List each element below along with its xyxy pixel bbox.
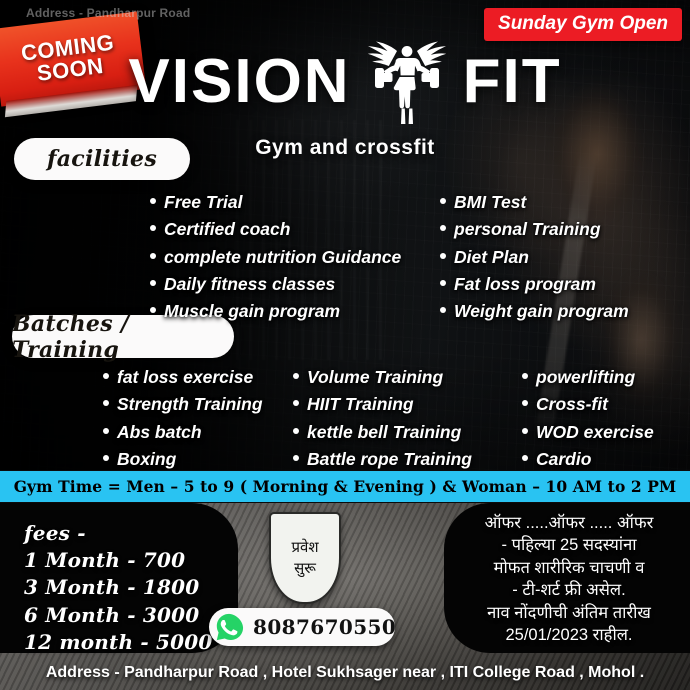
facility-item-label: BMI Test [454,191,526,214]
facility-item: personal Training [440,218,629,241]
bullet-icon [440,307,446,313]
batch-item: powerlifting [522,366,654,389]
batch-item: kettle bell Training [293,421,472,444]
bullet-icon [293,455,299,461]
logo-word-vision: VISION [128,51,350,113]
bullet-icon [103,373,109,379]
batch-item-label: WOD exercise [536,421,654,444]
batch-item-label: powerlifting [536,366,635,389]
batch-item: Strength Training [103,393,263,416]
facility-item-label: Free Trial [164,191,242,214]
batch-item: Volume Training [293,366,472,389]
bullet-icon [440,198,446,204]
batch-item-label: fat loss exercise [117,366,253,389]
batch-item-label: Cross-fit [536,393,608,416]
fees-title: fees - [24,520,213,547]
bullet-icon [293,428,299,434]
bullet-icon [103,455,109,461]
facility-item-label: Muscle gain program [164,300,340,323]
facility-item: Daily fitness classes [150,273,401,296]
shield-line-1: प्रवेश [291,539,318,556]
address-bar: Address - Pandharpur Road , Hotel Sukhsa… [0,655,690,690]
batch-item-label: Volume Training [307,366,443,389]
facility-item-label: Diet Plan [454,246,529,269]
winged-bodybuilder-icon [353,34,461,130]
facility-item: Diet Plan [440,246,629,269]
bullet-icon [522,455,528,461]
bullet-icon [150,253,156,259]
fees-row: 12 month - 5000 [24,629,213,656]
whatsapp-number[interactable]: 8087670550 [253,615,396,639]
whatsapp-contact-chip[interactable]: 8087670550 [209,608,395,646]
batch-item: WOD exercise [522,421,654,444]
facility-item: complete nutrition Guidance [150,246,401,269]
batch-item: Abs batch [103,421,263,444]
offer-line: नाव नोंदणीची अंतिम तारीख [448,602,690,624]
bullet-icon [440,225,446,231]
bullet-icon [103,400,109,406]
facility-item: Certified coach [150,218,401,241]
bullet-icon [150,225,156,231]
whatsapp-icon [214,612,244,642]
offer-text-block: ऑफर .....ऑफर ..... ऑफर- पहिल्या 25 सदस्य… [448,512,690,647]
bullet-icon [150,307,156,313]
batch-item-label: Boxing [117,448,176,471]
bullet-icon [293,400,299,406]
batch-item: Boxing [103,448,263,471]
facilities-section-pill: facilities [14,138,190,180]
logo-word-fit: FIT [463,51,562,113]
batches-list-column-3: powerliftingCross-fitWOD exerciseCardio [522,366,654,475]
batch-item: HIIT Training [293,393,472,416]
facility-item-label: Certified coach [164,218,290,241]
batch-item-label: Abs batch [117,421,202,444]
fees-rows: 1 Month - 7003 Month - 18006 Month - 300… [24,547,213,656]
fees-row: 6 Month - 3000 [24,602,213,629]
batch-item-label: Cardio [536,448,591,471]
batch-item-label: Battle rope Training [307,448,472,471]
fees-row: 1 Month - 700 [24,547,213,574]
bullet-icon [522,400,528,406]
facility-item-label: personal Training [454,218,601,241]
batch-item: Cardio [522,448,654,471]
facility-item: BMI Test [440,191,629,214]
address-watermark: Address - Pandharpur Road [26,6,190,20]
facility-item: Free Trial [150,191,401,214]
shield-line-2: सुरू [294,560,316,577]
logo-row: VISION FIT [0,34,690,130]
bullet-icon [440,253,446,259]
facility-item: Muscle gain program [150,300,401,323]
bullet-icon [103,428,109,434]
facility-item-label: Daily fitness classes [164,273,335,296]
bullet-icon [293,373,299,379]
batch-item: Battle rope Training [293,448,472,471]
offer-line: 25/01/2023 राहील. [448,624,690,646]
bullet-icon [150,198,156,204]
batch-item: fat loss exercise [103,366,263,389]
batch-item-label: HIIT Training [307,393,414,416]
facilities-list-left: Free TrialCertified coachcomplete nutrit… [150,191,401,327]
facility-item-label: complete nutrition Guidance [164,246,401,269]
gym-time-text: Gym Time = Men – 5 to 9 ( Morning & Even… [14,477,677,496]
offer-line: - पहिल्या 25 सदस्यांना [448,534,690,556]
gym-time-bar: Gym Time = Men – 5 to 9 ( Morning & Even… [0,470,690,503]
bullet-icon [150,280,156,286]
facilities-section-label: facilities [47,146,157,172]
batches-list-column-2: Volume TrainingHIIT Trainingkettle bell … [293,366,472,475]
admission-open-shield: प्रवेश सुरू [269,512,341,604]
batch-item-label: Strength Training [117,393,263,416]
fees-row: 3 Month - 1800 [24,574,213,601]
offer-line: ऑफर .....ऑफर ..... ऑफर [448,512,690,534]
facility-item-label: Weight gain program [454,300,629,323]
batches-list-column-1: fat loss exerciseStrength TrainingAbs ba… [103,366,263,475]
facility-item: Fat loss program [440,273,629,296]
fees-block: fees - 1 Month - 7003 Month - 18006 Mont… [24,520,213,656]
bullet-icon [440,280,446,286]
batch-item: Cross-fit [522,393,654,416]
bullet-icon [522,373,528,379]
facility-item: Weight gain program [440,300,629,323]
address-text: Address - Pandharpur Road , Hotel Sukhsa… [46,664,644,682]
offer-line: - टी-शर्ट फ्री असेल. [448,579,690,601]
offer-line: मोफत शारीरिक चाचणी व [448,557,690,579]
facility-item-label: Fat loss program [454,273,596,296]
facilities-list-right: BMI Testpersonal TrainingDiet PlanFat lo… [440,191,629,327]
bullet-icon [522,428,528,434]
shield-text: प्रवेश सुरू [269,512,341,604]
gym-poster: COMING SOON Sunday Gym Open VISION [0,0,690,690]
batch-item-label: kettle bell Training [307,421,461,444]
